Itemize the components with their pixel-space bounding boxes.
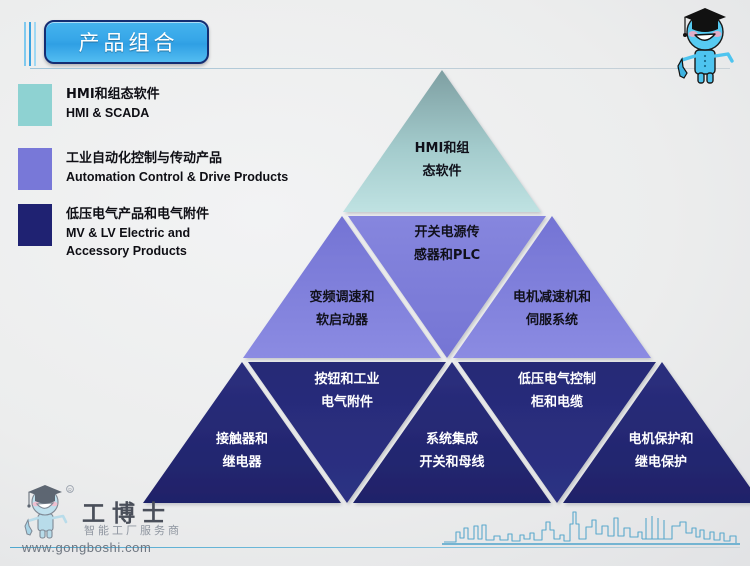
legend-label-en2-2: Accessory Products (66, 242, 209, 260)
legend-label-cn-2: 低压电气产品和电气附件 (66, 205, 209, 224)
pyramid-label-hmi-scada-line1: HMI和组 (382, 137, 502, 160)
legend-label-en-1: Automation Control & Drive Products (66, 168, 288, 186)
pyramid-label-lvcab-line1: 低压电气控制 (496, 368, 618, 391)
legend-label-en-2: MV & LV Electric and (66, 224, 209, 242)
pyramid-label-plc-line1: 开关电源传 (387, 221, 507, 244)
legend-label-cn-1: 工业自动化控制与传动产品 (66, 149, 288, 168)
legend-label-cn-0: HMI和组态软件 (66, 85, 160, 104)
graduate-robot-mascot-icon (668, 4, 742, 94)
pyramid-label-contactor-relay: 接触器和 继电器 (182, 428, 302, 474)
city-skyline-icon (442, 506, 742, 548)
pyramid-label-servo-line2: 伺服系统 (491, 309, 613, 332)
pyramid-label-hmi-scada-line2: 态软件 (382, 160, 502, 183)
pyramid-label-sysint-line1: 系统集成 (392, 428, 512, 451)
pyramid-label-vfd-line2: 软启动器 (282, 309, 402, 332)
svg-text:R: R (68, 488, 72, 494)
deco-line-3 (34, 22, 36, 66)
deco-line-1 (24, 22, 26, 66)
legend-swatch-hmi-scada (18, 84, 52, 126)
pyramid-label-motor-protection-relay: 电机保护和 继电保护 (601, 428, 721, 474)
legend-item-hmi-scada: HMI和组态软件 HMI & SCADA (18, 84, 368, 126)
pyramid-label-button-line1: 按钮和工业 (287, 368, 407, 391)
pyramid-label-button-line2: 电气附件 (287, 391, 407, 414)
graduate-robot-mascot-icon: R (16, 484, 78, 542)
legend: HMI和组态软件 HMI & SCADA 工业自动化控制与传动产品 Automa… (18, 84, 368, 276)
logo-tagline: 智能工厂服务商 (84, 522, 182, 538)
pyramid-label-contactor-line2: 继电器 (182, 451, 302, 474)
pyramid-label-servo-line1: 电机减速机和 (491, 286, 613, 309)
header-divider (30, 68, 730, 69)
legend-label-en-0: HMI & SCADA (66, 104, 160, 122)
pyramid-label-lvcab-line2: 柜和电缆 (496, 391, 618, 414)
legend-item-automation: 工业自动化控制与传动产品 Automation Control & Drive … (18, 148, 368, 190)
pyramid-label-hmi-scada: HMI和组 态软件 (382, 137, 502, 183)
deco-line-2 (29, 22, 31, 66)
logo-website-url[interactable]: www.gongboshi.com (22, 540, 151, 555)
pyramid-label-button-industrial-acc: 按钮和工业 电气附件 (287, 368, 407, 414)
pyramid-label-vfd-softstarter: 变频调速和 软启动器 (282, 286, 402, 332)
legend-item-lv-electric: 低压电气产品和电气附件 MV & LV Electric and Accesso… (18, 204, 368, 260)
pyramid-label-plc-line2: 感器和PLC (387, 244, 507, 267)
pyramid-label-vfd-line1: 变频调速和 (282, 286, 402, 309)
slide-canvas: 产品组合 HMI和组态软件 HMI & SCADA 工业自动化控制与传动产品 A… (0, 0, 750, 566)
page-title-box: 产品组合 (44, 20, 209, 64)
pyramid-label-power-sensor-plc: 开关电源传 感器和PLC (387, 221, 507, 267)
gongboshi-logo: R 工博士 智能工厂服务商 www.gongboshi.com (8, 484, 228, 560)
pyramid-label-lv-control-cabinet-cable: 低压电气控制 柜和电缆 (496, 368, 618, 414)
pyramid-label-sysint-line2: 开关和母线 (392, 451, 512, 474)
title-decoration-lines (24, 22, 46, 66)
pyramid-label-contactor-line1: 接触器和 (182, 428, 302, 451)
page-title: 产品组合 (75, 27, 179, 57)
pyramid-label-motor-reducer-servo: 电机减速机和 伺服系统 (491, 286, 613, 332)
pyramid-label-mprot-line2: 继电保护 (601, 451, 721, 474)
pyramid-label-system-integration-busbar: 系统集成 开关和母线 (392, 428, 512, 474)
pyramid-label-mprot-line1: 电机保护和 (601, 428, 721, 451)
legend-swatch-lv-electric (18, 204, 52, 246)
legend-swatch-automation (18, 148, 52, 190)
